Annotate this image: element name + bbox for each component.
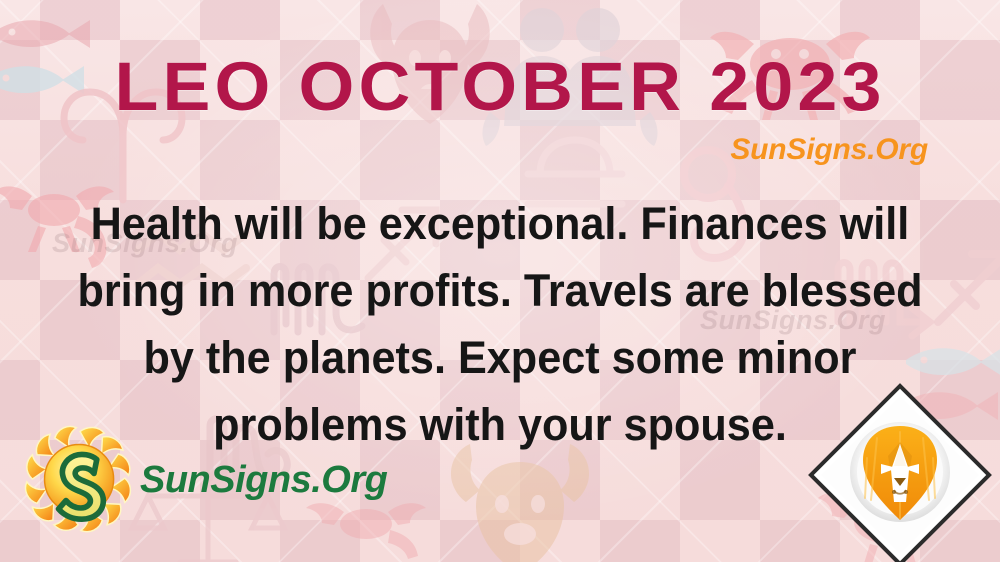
horoscope-card: SunSigns.Org SunSigns.Org LEO OCTOBER 20… xyxy=(0,0,1000,562)
brand-logo[interactable]: SunSigns.Org xyxy=(24,424,387,540)
header-brand-text: SunSigns.Org xyxy=(730,133,928,167)
brand-logo-text: SunSigns.Org xyxy=(140,459,387,502)
title-block: LEO OCTOBER 2023 xyxy=(0,52,1000,121)
body-line: Health will be exceptional. Finances wil… xyxy=(39,190,961,257)
zodiac-badge-leo[interactable] xyxy=(805,380,995,562)
page-title: LEO OCTOBER 2023 xyxy=(0,52,1000,121)
sun-logo-icon xyxy=(24,424,136,536)
body-line: bring in more profits. Travels are bless… xyxy=(39,257,961,324)
